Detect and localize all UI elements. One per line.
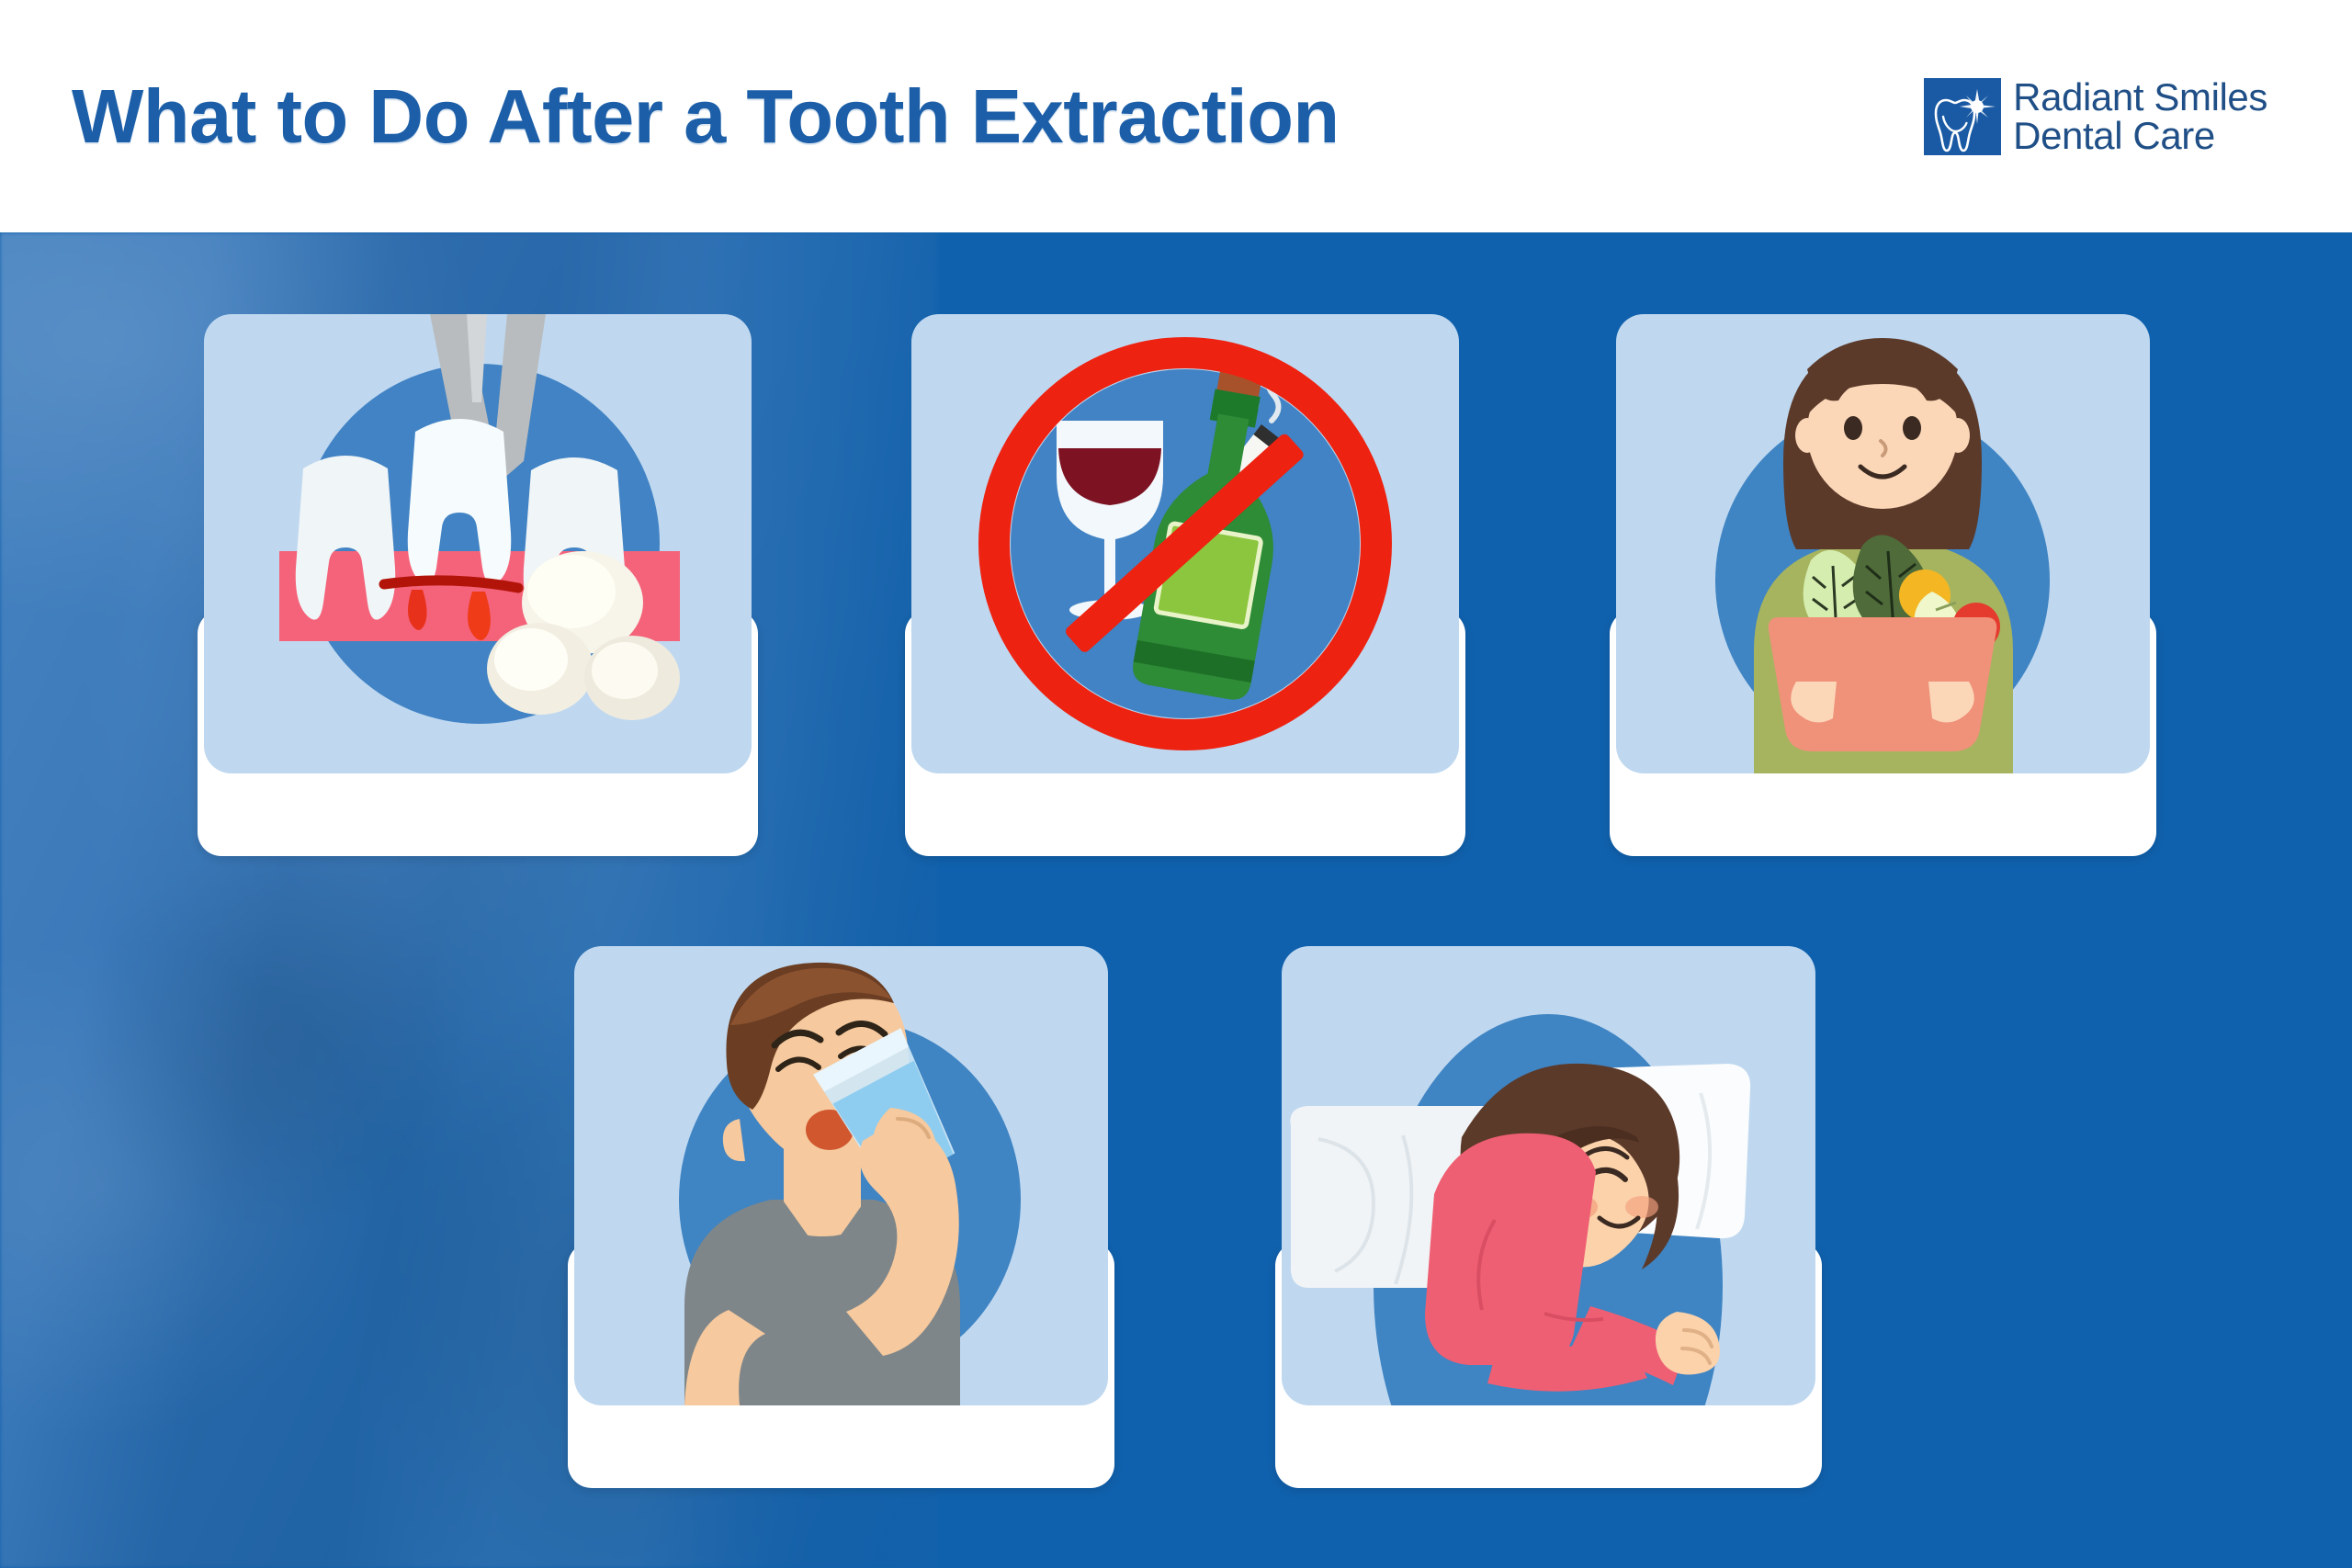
card-illustration-panel-1 (204, 314, 752, 773)
card-keep-bleeding-under-control[interactable]: Keep bleeding under control (198, 314, 758, 856)
card-illustration-panel-4 (574, 946, 1108, 1405)
card-illustration-panel-2 (911, 314, 1459, 773)
no-alcohol-no-smoking-prohibition-illustration (911, 314, 1459, 773)
card-rinse-daily[interactable]: Rinse daily (568, 946, 1114, 1488)
infographic-page: What to Do After a Tooth Extraction (0, 0, 2352, 1568)
brand-name-line1: Radiant Smiles (2013, 78, 2267, 117)
brand-logo: Radiant Smiles Dental Care (1924, 78, 2267, 155)
brand-name: Radiant Smiles Dental Care (2013, 78, 2267, 154)
page-title: What to Do After a Tooth Extraction (72, 73, 1340, 161)
card-illustration-panel-3 (1616, 314, 2150, 773)
card-illustration-panel-5 (1282, 946, 1815, 1405)
card-eat-soft-and-healthy-food[interactable]: Eat soft and healthy food (1610, 314, 2156, 856)
card-get-plenty-of-rest[interactable]: Get plenty of rest (1275, 946, 1822, 1488)
card-avoid-alcohol-sugar-smoking[interactable]: Avoid alcoholic beverages, sugary food, … (905, 314, 1465, 856)
woman-holding-vegetable-basket-illustration (1616, 314, 2150, 773)
tooth-extraction-forceps-gauze-illustration (204, 314, 752, 773)
brand-name-line2: Dental Care (2013, 117, 2267, 155)
man-drinking-glass-of-water-illustration (574, 946, 1108, 1405)
tooth-sparkle-icon (1924, 78, 2001, 155)
woman-sleeping-on-pillow-illustration (1282, 946, 1815, 1405)
header-bar: What to Do After a Tooth Extraction (0, 0, 2352, 232)
